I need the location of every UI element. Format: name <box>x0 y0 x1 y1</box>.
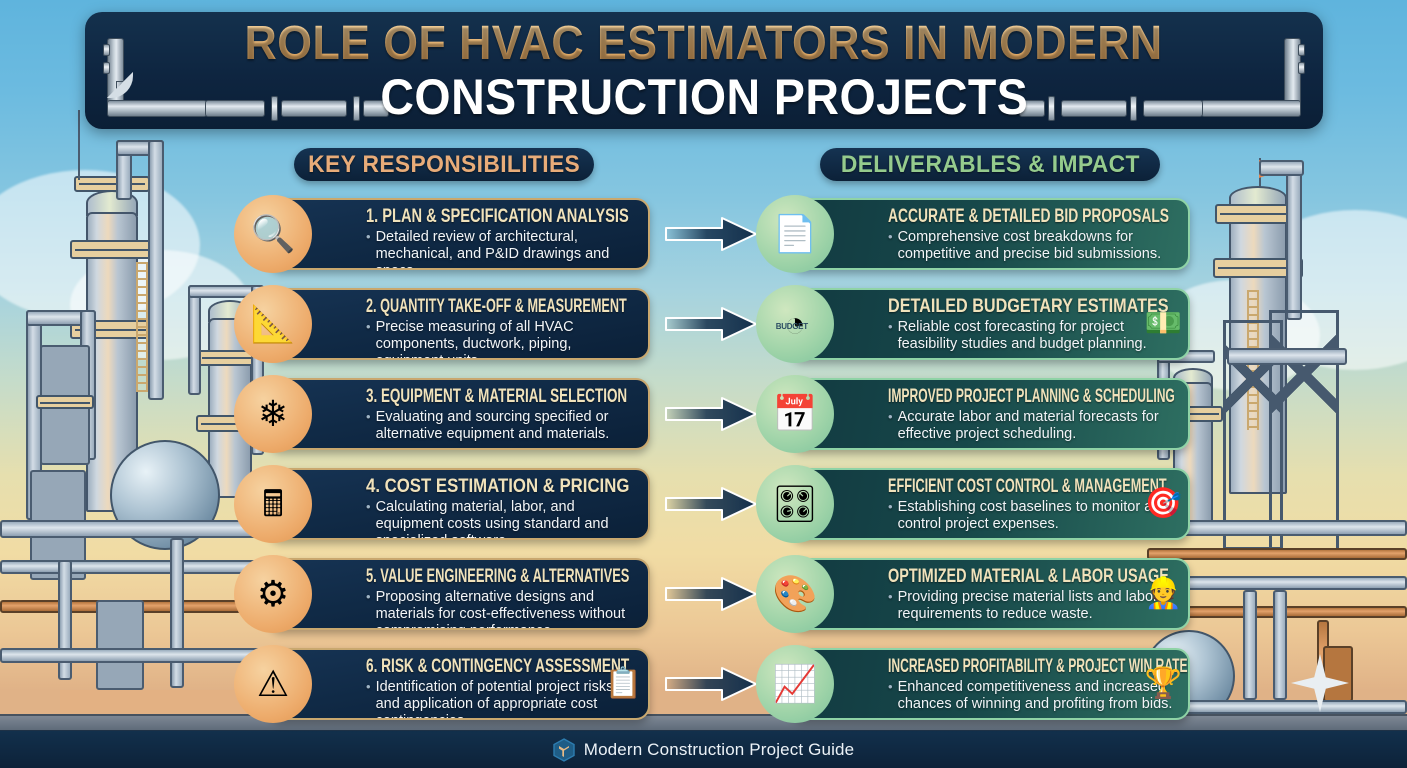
tape-measure-pencil-icon-glyph: 📐 <box>251 306 296 342</box>
blueprint-magnifier-icon-glyph: 🔍 <box>251 216 296 252</box>
responsibility-body: •Identification of potential project ris… <box>366 679 634 720</box>
content-row: ⚠6. RISK & CONTINGENCY ASSESSMENT•Identi… <box>0 648 1407 720</box>
deliverable-title: EFFICIENT COST CONTROL & MANAGEMENT <box>888 476 1074 497</box>
bullet-icon: • <box>888 409 893 443</box>
growth-chart-building-icon-glyph: 📈 <box>773 666 818 702</box>
growth-chart-building-icon: 📈 <box>756 645 834 723</box>
bullet-icon: • <box>366 409 371 443</box>
section-heading-right-label: DELIVERABLES & IMPACT <box>841 151 1140 179</box>
responsibility-body: •Precise measuring of all HVAC component… <box>366 319 634 360</box>
gantt-chart-clock-icon-glyph: 📅 <box>773 396 818 432</box>
section-heading-left-label: KEY RESPONSIBILITIES <box>308 151 580 179</box>
trophy-icon: 🏆 <box>1145 669 1182 699</box>
flow-arrow <box>664 305 758 343</box>
responsibility-body: •Calculating material, labor, and equipm… <box>366 499 634 540</box>
bullet-icon: • <box>888 679 893 713</box>
content-row: 📐2. QUANTITY TAKE-OFF & MEASUREMENT•Prec… <box>0 288 1407 360</box>
pipe-flange-decoration <box>1298 62 1305 74</box>
blueprint-magnifier-icon: 🔍 <box>234 195 312 273</box>
responsibility-bullet-text: Evaluating and sourcing specified or alt… <box>376 409 634 443</box>
responsibility-card[interactable]: 3. EQUIPMENT & MATERIAL SELECTION•Evalua… <box>268 378 650 450</box>
palette-materials-icon: 🎨 <box>756 555 834 633</box>
bullet-icon: • <box>366 679 371 720</box>
deliverable-card[interactable]: OPTIMIZED MATERIAL & LABOR USAGE•Providi… <box>790 558 1190 630</box>
deliverable-body: •Comprehensive cost breakdowns for compe… <box>888 229 1174 263</box>
bullet-icon: • <box>888 499 893 533</box>
deliverable-bullet-text: Accurate labor and material forecasts fo… <box>898 409 1174 443</box>
pipe-flange-decoration <box>1298 44 1305 56</box>
pipe-decoration <box>1143 100 1203 117</box>
responsibility-body: •Evaluating and sourcing specified or al… <box>366 409 634 443</box>
document-check-icon: 📄 <box>756 195 834 273</box>
deliverable-bullet-text: Comprehensive cost breakdowns for compet… <box>898 229 1174 263</box>
pipe-flange-decoration <box>353 96 360 121</box>
flow-arrow <box>664 215 758 253</box>
content-row: ❄3. EQUIPMENT & MATERIAL SELECTION•Evalu… <box>0 378 1407 450</box>
bullet-icon: • <box>888 589 893 623</box>
hvac-units-icon: ❄ <box>234 375 312 453</box>
palette-materials-icon-glyph: 🎨 <box>773 576 818 612</box>
pipe-decoration <box>107 100 207 117</box>
deliverable-body: •Providing precise material lists and la… <box>888 589 1174 623</box>
responsibility-bullet-text: Calculating material, labor, and equipme… <box>376 499 634 540</box>
gear-dollar-balance-icon-glyph: ⚙ <box>257 576 289 612</box>
responsibility-bullet-text: Detailed review of architectural, mechan… <box>376 229 634 270</box>
responsibility-body: •Detailed review of architectural, mecha… <box>366 229 634 270</box>
pipe-flange-decoration <box>103 62 110 74</box>
deliverable-bullet-text: Establishing cost baselines to monitor a… <box>898 499 1174 533</box>
pipe-elbow-decoration <box>107 72 133 98</box>
deliverable-card[interactable]: IMPROVED PROJECT PLANNING & SCHEDULING•A… <box>790 378 1190 450</box>
pipe-decoration <box>281 100 347 117</box>
deliverable-body: •Accurate labor and material forecasts f… <box>888 409 1174 443</box>
deliverable-body: •Enhanced competitiveness and increased … <box>888 679 1174 713</box>
steering-wheel-icon: 🎛 <box>756 465 834 543</box>
responsibility-card[interactable]: 1. PLAN & SPECIFICATION ANALYSIS•Detaile… <box>268 198 650 270</box>
deliverable-bullet-text: Reliable cost forecasting for project fe… <box>898 319 1174 353</box>
deliverable-title: INCREASED PROFITABILITY & PROJECT WIN RA… <box>888 656 1065 677</box>
title-banner: ROLE OF HVAC ESTIMATORS IN MODERN CONSTR… <box>85 12 1323 129</box>
responsibility-title: 2. QUANTITY TAKE-OFF & MEASUREMENT <box>366 296 540 317</box>
bullet-icon: • <box>888 319 893 353</box>
flow-arrow <box>664 665 758 703</box>
responsibility-card[interactable]: 4. COST ESTIMATION & PRICING•Calculating… <box>268 468 650 540</box>
document-check-icon-glyph: 📄 <box>773 216 818 252</box>
responsibility-card[interactable]: 5. VALUE ENGINEERING & ALTERNATIVES•Prop… <box>268 558 650 630</box>
flow-arrow <box>664 575 758 613</box>
steering-wheel-icon-glyph: 🎛 <box>772 486 818 522</box>
risk-gauge-warning-icon: ⚠ <box>234 645 312 723</box>
responsibility-title: 6. RISK & CONTINGENCY ASSESSMENT <box>366 656 554 677</box>
deliverable-body: •Reliable cost forecasting for project f… <box>888 319 1174 353</box>
deliverable-card[interactable]: DETAILED BUDGETARY ESTIMATES•Reliable co… <box>790 288 1190 360</box>
section-heading-key-responsibilities: KEY RESPONSIBILITIES <box>294 148 594 181</box>
content-row: 🖩4. COST ESTIMATION & PRICING•Calculatin… <box>0 468 1407 540</box>
deliverable-card[interactable]: INCREASED PROFITABILITY & PROJECT WIN RA… <box>790 648 1190 720</box>
bullet-icon: • <box>366 589 371 630</box>
content-row: 🔍1. PLAN & SPECIFICATION ANALYSIS•Detail… <box>0 198 1407 270</box>
deliverable-bullet-text: Providing precise material lists and lab… <box>898 589 1174 623</box>
pipe-flange-decoration <box>271 96 278 121</box>
deliverable-card[interactable]: EFFICIENT COST CONTROL & MANAGEMENT•Esta… <box>790 468 1190 540</box>
responsibility-title: 3. EQUIPMENT & MATERIAL SELECTION <box>366 386 551 407</box>
responsibility-title: 4. COST ESTIMATION & PRICING <box>366 476 596 497</box>
responsibility-bullet-text: Precise measuring of all HVAC components… <box>376 319 634 360</box>
pipe-flange-decoration <box>1048 96 1055 121</box>
gear-dollar-balance-icon: ⚙ <box>234 555 312 633</box>
pie-chart-budget-label: BUDGET <box>776 323 808 331</box>
hex-cube-logo-icon <box>553 738 575 762</box>
clipboard-checklist-icon: 📋 <box>605 669 642 699</box>
responsibility-title: 5. VALUE ENGINEERING & ALTERNATIVES <box>366 566 543 587</box>
bullet-icon: • <box>366 499 371 540</box>
deliverable-title: DETAILED BUDGETARY ESTIMATES <box>888 296 1125 317</box>
deliverable-title: IMPROVED PROJECT PLANNING & SCHEDULING <box>888 386 1065 407</box>
bullet-icon: • <box>366 319 371 360</box>
gantt-chart-clock-icon: 📅 <box>756 375 834 453</box>
spreadsheet-calculator-icon: 🖩 <box>234 465 312 543</box>
deliverable-card[interactable]: ACCURATE & DETAILED BID PROPOSALS•Compre… <box>790 198 1190 270</box>
responsibility-card[interactable]: 2. QUANTITY TAKE-OFF & MEASUREMENT•Preci… <box>268 288 650 360</box>
deliverable-title: ACCURATE & DETAILED BID PROPOSALS <box>888 206 1091 227</box>
pipe-decoration <box>205 100 265 117</box>
construction-workers-icon: 👷 <box>1145 579 1182 609</box>
page-title-line2: CONSTRUCTION PROJECTS <box>380 72 1028 122</box>
target-dartboard-icon: 🎯 <box>1145 489 1182 519</box>
hvac-units-icon-glyph: ❄ <box>258 396 288 432</box>
responsibility-body: •Proposing alternative designs and mater… <box>366 589 634 630</box>
responsibility-bullet-text: Proposing alternative designs and materi… <box>376 589 634 630</box>
responsibility-title: 1. PLAN & SPECIFICATION ANALYSIS <box>366 206 567 227</box>
pipe-flange-decoration <box>1130 96 1137 121</box>
risk-gauge-warning-icon-glyph: ⚠ <box>257 666 289 702</box>
deliverable-bullet-text: Enhanced competitiveness and increased c… <box>898 679 1174 713</box>
content-row: ⚙5. VALUE ENGINEERING & ALTERNATIVES•Pro… <box>0 558 1407 630</box>
pipe-decoration <box>1061 100 1127 117</box>
bullet-icon: • <box>888 229 893 263</box>
responsibility-card[interactable]: 6. RISK & CONTINGENCY ASSESSMENT•Identif… <box>268 648 650 720</box>
cash-stack-icon: 💵 <box>1145 309 1182 339</box>
deliverable-body: •Establishing cost baselines to monitor … <box>888 499 1174 533</box>
tape-measure-pencil-icon: 📐 <box>234 285 312 363</box>
responsibility-bullet-text: Identification of potential project risk… <box>376 679 634 720</box>
pipe-flange-decoration <box>103 44 110 56</box>
page-title-line1: ROLE OF HVAC ESTIMATORS IN MODERN <box>245 20 1163 68</box>
ground-strip <box>0 714 1407 730</box>
infographic-canvas: ROLE OF HVAC ESTIMATORS IN MODERN CONSTR… <box>0 0 1407 768</box>
spreadsheet-calculator-icon-glyph: 🖩 <box>262 486 284 522</box>
flow-arrow <box>664 485 758 523</box>
footer-label: Modern Construction Project Guide <box>584 740 854 760</box>
footer-bar: Modern Construction Project Guide <box>0 730 1407 768</box>
pie-chart-budget-icon: ◔BUDGET <box>756 285 834 363</box>
pipe-decoration <box>1201 100 1301 117</box>
flow-arrow <box>664 395 758 433</box>
deliverable-title: OPTIMIZED MATERIAL & LABOR USAGE <box>888 566 1100 587</box>
bullet-icon: • <box>366 229 371 270</box>
section-heading-deliverables-impact: DELIVERABLES & IMPACT <box>820 148 1160 181</box>
